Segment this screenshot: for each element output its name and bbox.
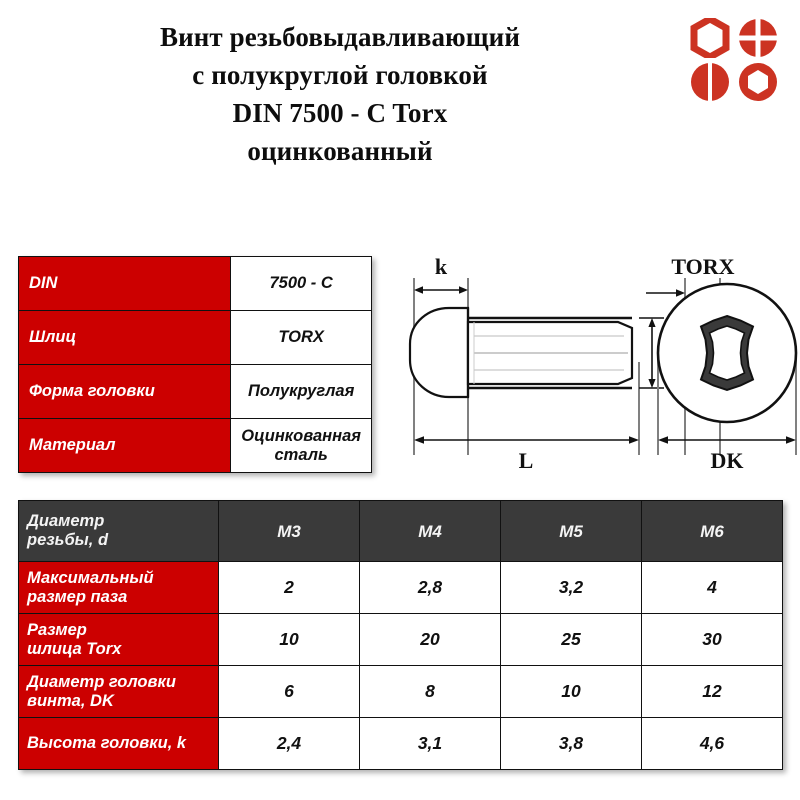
technical-drawing: d k L TOR [396, 250, 800, 490]
spec-label-head-shape: Форма головки [19, 365, 231, 419]
dim-row-label-line-2: размер паза [27, 588, 127, 606]
page-title: Винт резьбовыдавливающий с полукруглой г… [40, 18, 640, 170]
title-line-2: с полукруглой головкой [40, 56, 640, 94]
table-row: DIN 7500 - C [19, 257, 372, 311]
dimension-dk [658, 436, 796, 444]
spec-value-shlits: TORX [231, 311, 372, 365]
dimension-table: Диаметр резьбы, d M3 M4 M5 M6 Максимальн… [18, 500, 783, 770]
dim-cell: 4 [642, 562, 783, 614]
dim-cell: 25 [501, 614, 642, 666]
dim-cell: 30 [642, 614, 783, 666]
label-L: L [519, 448, 534, 473]
spec-label-material: Материал [19, 419, 231, 473]
spec-label-shlits: Шлиц [19, 311, 231, 365]
dim-column-m3: M3 [219, 501, 360, 562]
dim-cell: 4,6 [642, 718, 783, 770]
dim-cell: 20 [360, 614, 501, 666]
table-row: Форма головки Полукруглая [19, 365, 372, 419]
dim-header-label-line-1: Диаметр [27, 512, 104, 530]
label-k: k [435, 254, 448, 279]
dim-header-label: Диаметр резьбы, d [19, 501, 219, 562]
table-row: Материал Оцинкованная сталь [19, 419, 372, 473]
dimension-L [414, 436, 639, 444]
page-header: Винт резьбовыдавливающий с полукруглой г… [0, 0, 800, 215]
dim-cell: 2,4 [219, 718, 360, 770]
dim-cell: 2,8 [360, 562, 501, 614]
label-torx: TORX [671, 254, 734, 279]
fastener-heads-logo [690, 18, 782, 100]
dim-column-m4: M4 [360, 501, 501, 562]
spec-value-din: 7500 - C [231, 257, 372, 311]
dim-cell: 8 [360, 666, 501, 718]
dim-cell: 12 [642, 666, 783, 718]
dim-column-m6: M6 [642, 501, 783, 562]
table-header-row: Диаметр резьбы, d M3 M4 M5 M6 [19, 501, 783, 562]
screw-side-view: d k L [410, 254, 693, 473]
dim-row-label-max-slot: Максимальный размер паза [19, 562, 219, 614]
dim-row-label-line-1: Диаметр головки [27, 673, 176, 691]
spec-value-head-shape: Полукруглая [231, 365, 372, 419]
dim-column-m5: M5 [501, 501, 642, 562]
dimension-k [414, 286, 468, 294]
spec-value-material: Оцинкованная сталь [231, 419, 372, 473]
dim-row-label-line-1: Высота головки, k [27, 734, 186, 752]
hexagon-outline-icon [690, 18, 730, 58]
dim-row-label-line-2: шлица Torx [27, 640, 121, 658]
table-row: Шлиц TORX [19, 311, 372, 365]
dim-cell: 10 [501, 666, 642, 718]
specification-table: DIN 7500 - C Шлиц TORX Форма головки Пол… [18, 256, 372, 473]
dim-row-label-torx-size: Размер шлица Torx [19, 614, 219, 666]
title-line-4: оцинкованный [40, 132, 640, 170]
hex-socket-circle-icon [738, 62, 778, 102]
table-row: Максимальный размер паза 2 2,8 3,2 4 [19, 562, 783, 614]
dim-cell: 3,2 [501, 562, 642, 614]
dim-header-label-line-2: резьбы, d [27, 531, 108, 549]
label-dk: DK [711, 448, 744, 473]
title-line-1: Винт резьбовыдавливающий [40, 18, 640, 56]
dim-cell: 2 [219, 562, 360, 614]
dim-cell: 3,1 [360, 718, 501, 770]
dim-cell: 6 [219, 666, 360, 718]
torx-socket-star [710, 326, 745, 380]
dim-row-label-head-height: Высота головки, k [19, 718, 219, 770]
table-row: Размер шлица Torx 10 20 25 30 [19, 614, 783, 666]
dim-row-label-line-2: винта, DK [27, 692, 114, 710]
screw-head-profile [410, 308, 468, 397]
title-line-3: DIN 7500 - C Torx [40, 94, 640, 132]
table-row: Диаметр головки винта, DK 6 8 10 12 [19, 666, 783, 718]
screw-head-top-view: TORX DK [646, 254, 796, 473]
dim-cell: 3,8 [501, 718, 642, 770]
dim-cell: 10 [219, 614, 360, 666]
dim-row-label-line-1: Размер [27, 621, 87, 639]
slotted-circle-icon [690, 62, 730, 102]
dim-row-label-line-1: Максимальный [27, 569, 154, 587]
spec-label-din: DIN [19, 257, 231, 311]
dim-row-label-head-diameter: Диаметр головки винта, DK [19, 666, 219, 718]
cross-slot-circle-icon [738, 18, 778, 58]
table-row: Высота головки, k 2,4 3,1 3,8 4,6 [19, 718, 783, 770]
